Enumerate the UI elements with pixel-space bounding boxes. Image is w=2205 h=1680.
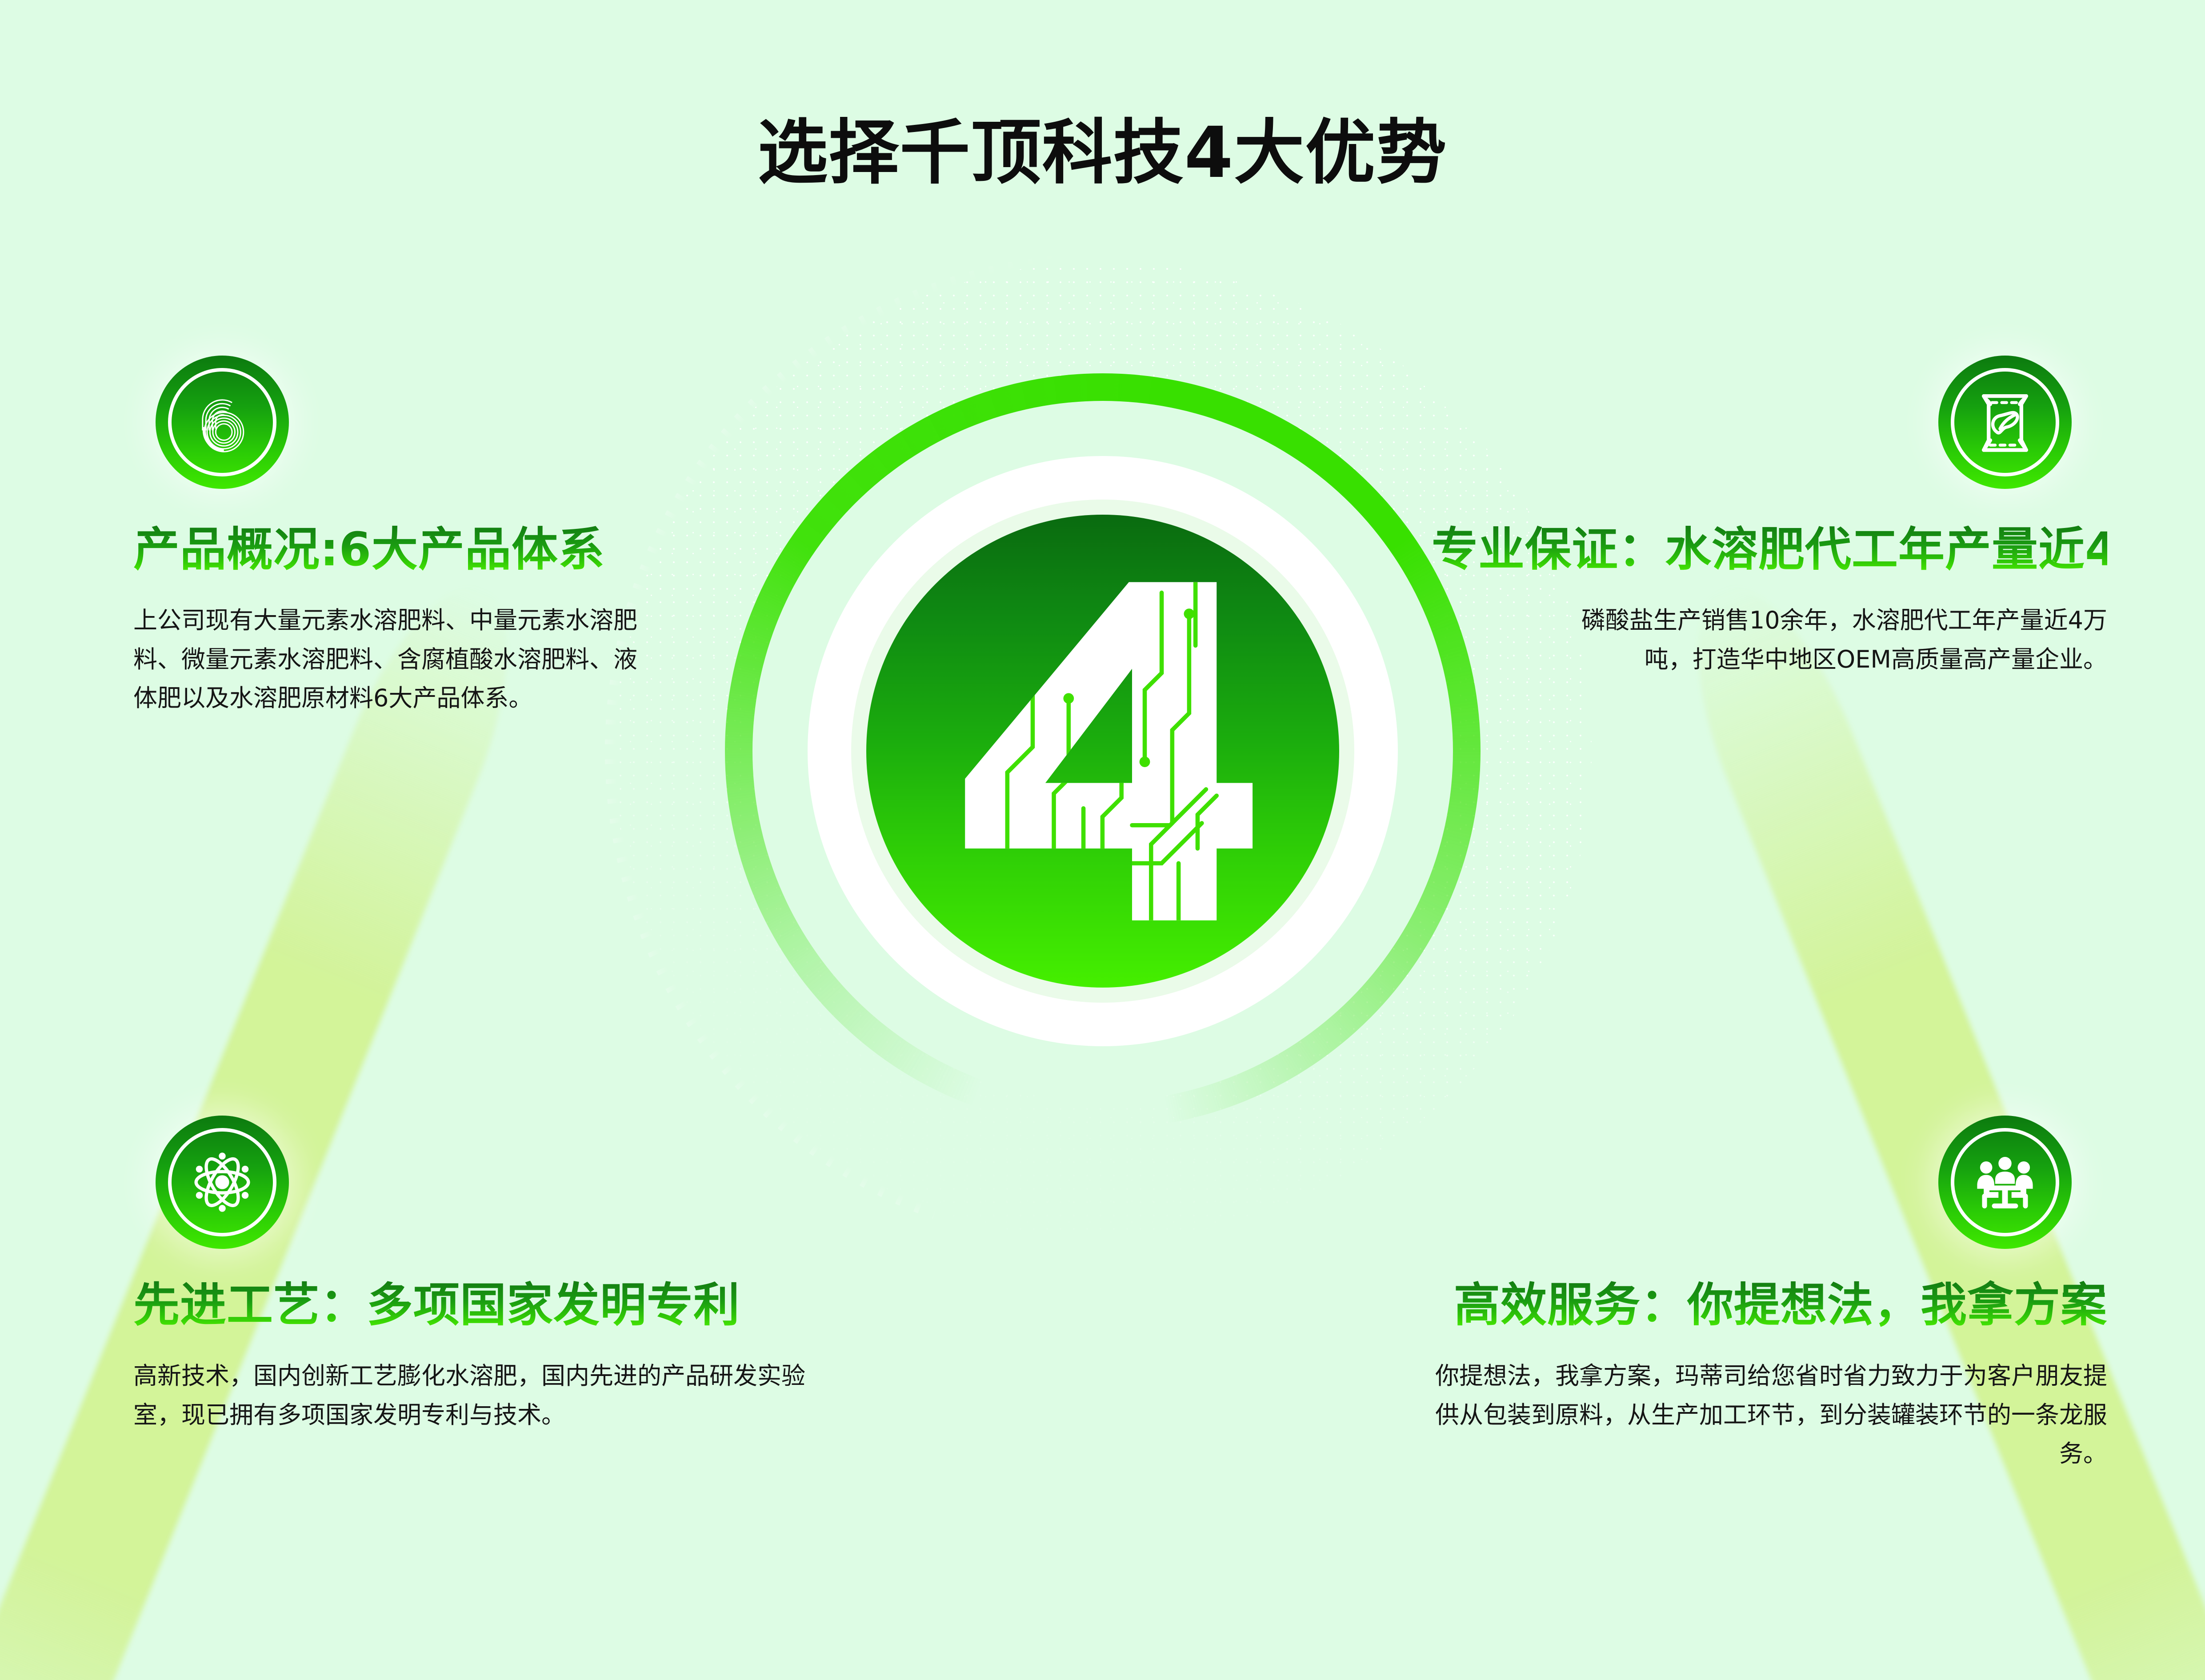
feature-block-production-capacity: 专业保证：水溶肥代工年产量近4万吨 磷酸盐生产销售10余年，水溶肥代工年产量近4… xyxy=(1432,524,2107,679)
center-medallion xyxy=(725,373,1481,1129)
number-four-circuit-icon xyxy=(937,572,1268,931)
badge-production-capacity[interactable] xyxy=(1938,356,2072,489)
feature-body: 你提想法，我拿方案，玛蒂司给您省时省力致力于为客户朋友提供从包装到原料，从生产加… xyxy=(1432,1356,2107,1473)
fertilizer-bag-icon xyxy=(1964,381,2046,463)
page-title: 选择千顶科技4大优势 xyxy=(0,96,2205,197)
feature-heading: 先进工艺：多项国家发明专利 xyxy=(133,1280,889,1330)
feature-heading: 高效服务：你提想法，我拿方案 xyxy=(1396,1280,2107,1330)
meeting-table-icon xyxy=(1964,1141,2046,1223)
feature-heading: 专业保证：水溶肥代工年产量近4万吨 xyxy=(1432,524,2107,574)
badge-product-overview[interactable] xyxy=(156,356,289,489)
feature-block-efficient-service: 高效服务：你提想法，我拿方案 你提想法，我拿方案，玛蒂司给您省时省力致力于为客户… xyxy=(1396,1280,2107,1473)
center-core-circle xyxy=(866,515,1339,988)
feature-body: 磷酸盐生产销售10余年，水溶肥代工年产量近4万吨，打造华中地区OEM高质量高产量… xyxy=(1543,601,2107,679)
badge-advanced-technology[interactable] xyxy=(156,1116,289,1249)
atom-icon xyxy=(181,1141,263,1223)
feature-block-advanced-technology: 先进工艺：多项国家发明专利 高新技术，国内创新工艺膨化水溶肥，国内先进的产品研发… xyxy=(133,1280,889,1434)
feature-body: 高新技术，国内创新工艺膨化水溶肥，国内先进的产品研发实验室，现已拥有多项国家发明… xyxy=(133,1356,836,1434)
badge-efficient-service[interactable] xyxy=(1938,1116,2072,1249)
feature-block-product-overview: 产品概况:6大产品体系 上公司现有大量元素水溶肥料、中量元素水溶肥料、微量元素水… xyxy=(133,524,782,718)
number-six-arcs-icon xyxy=(181,381,263,463)
background-swoosh-right-icon xyxy=(1660,564,2205,1680)
feature-heading: 产品概况:6大产品体系 xyxy=(133,524,782,574)
feature-body: 上公司现有大量元素水溶肥料、中量元素水溶肥料、微量元素水溶肥料、含腐植酸水溶肥料… xyxy=(133,601,658,717)
background-swoosh-left-icon xyxy=(0,564,545,1680)
infographic-poster: 选择千顶科技4大优势 xyxy=(0,0,2205,1680)
